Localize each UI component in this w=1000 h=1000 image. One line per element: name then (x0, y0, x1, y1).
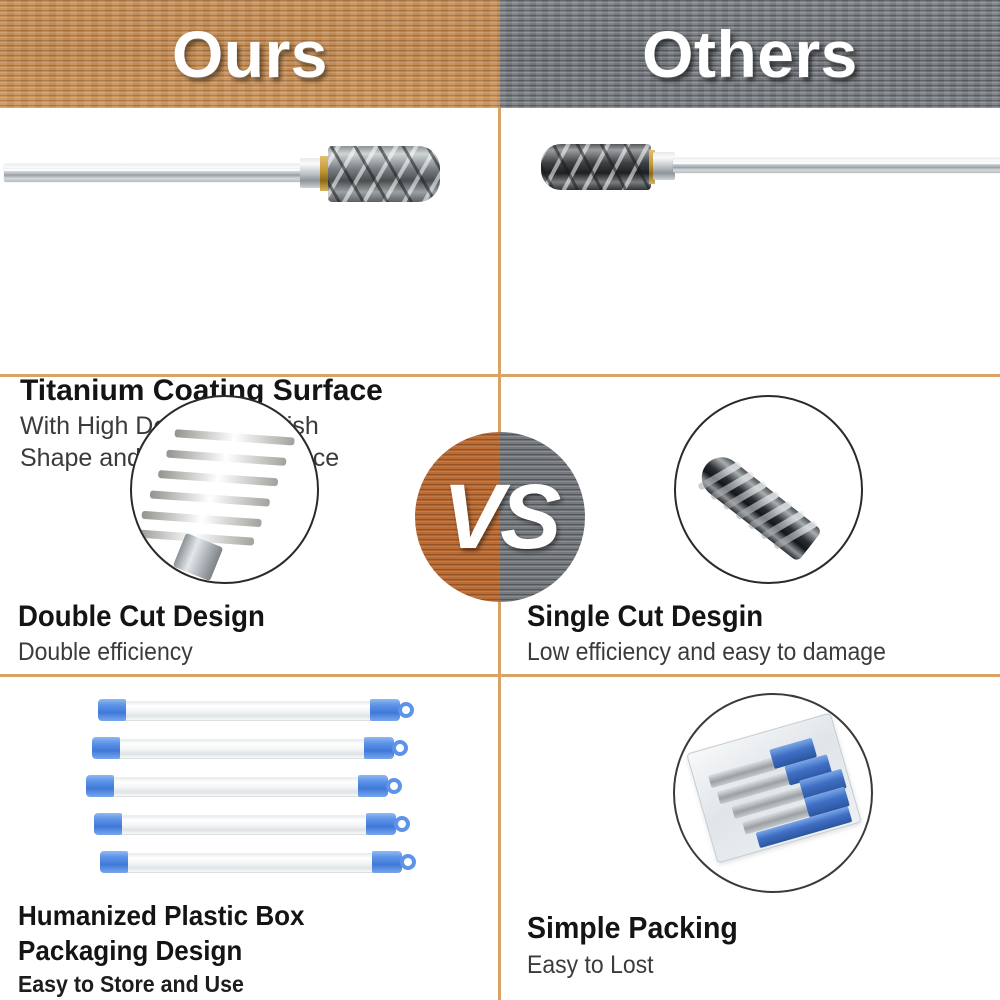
row-2-left-line-1: Double efficiency (18, 636, 265, 669)
burr-cutting-head (541, 144, 651, 190)
tube-item (94, 813, 412, 835)
alloy-burr-image (541, 136, 1000, 196)
tube-item (98, 699, 416, 721)
tube-item (86, 775, 404, 797)
row-3-left-cell: Humanized Plastic Box Packaging Design E… (0, 677, 498, 1000)
header-ours-title: Ours (172, 21, 328, 87)
row-2-right-text: Single Cut Desgin Low efficiency and eas… (527, 598, 917, 669)
plastic-tube-packaging-image (70, 691, 470, 881)
header-banner: Ours Others (0, 0, 1000, 108)
header-others-panel: Others (500, 0, 1000, 108)
row-3-left-text: Humanized Plastic Box Packaging Design E… (18, 898, 326, 1000)
plastic-bag-packaging-image (673, 693, 873, 893)
double-cut-burr-body (141, 402, 287, 563)
burr-cutting-head (328, 146, 440, 202)
tube-item (100, 851, 418, 873)
header-ours-panel: Ours (0, 0, 500, 108)
burr-collar (300, 158, 322, 188)
row-2-left-heading: Double Cut Design (18, 598, 265, 636)
row-3-left-heading-line-1: Humanized Plastic Box (18, 898, 305, 933)
row-3-left-line-1: Easy to Store and Use (18, 968, 305, 1000)
row-2-left-text: Double Cut Design Double efficiency (18, 598, 286, 669)
burr-collar (653, 152, 675, 180)
row-3-left-heading-line-2: Packaging Design (18, 933, 305, 968)
row-3-right-text: Simple Packing Easy to Lost (527, 908, 756, 982)
burr-shank (4, 164, 306, 182)
double-cut-burr-closeup-image (130, 395, 319, 584)
row-3-right-cell: Simple Packing Easy to Lost (501, 677, 1000, 1000)
titanium-burr-image (4, 138, 464, 208)
tube-item (92, 737, 410, 759)
row-3-right-line-1: Easy to Lost (527, 948, 738, 982)
vs-badge-label: VS (415, 432, 585, 602)
vs-badge: VS (415, 432, 585, 602)
row-1-left-cell: Titanium Coating Surface With High Degre… (0, 108, 498, 374)
single-cut-burr-closeup-image (674, 395, 863, 584)
row-2-right-line-1: Low efficiency and easy to damage (527, 636, 886, 669)
row-1-right-cell: Alloy Metal Low Hardness Poor Wear-Resis… (501, 108, 1000, 374)
burr-shank (673, 158, 1000, 173)
row-2-right-heading: Single Cut Desgin (527, 598, 886, 636)
comparison-infographic: Ours Others (0, 0, 1000, 1000)
header-others-title: Others (642, 21, 858, 87)
row-3-right-heading: Simple Packing (527, 908, 738, 948)
plastic-bag (686, 713, 862, 864)
single-cut-burr-body (694, 449, 823, 562)
